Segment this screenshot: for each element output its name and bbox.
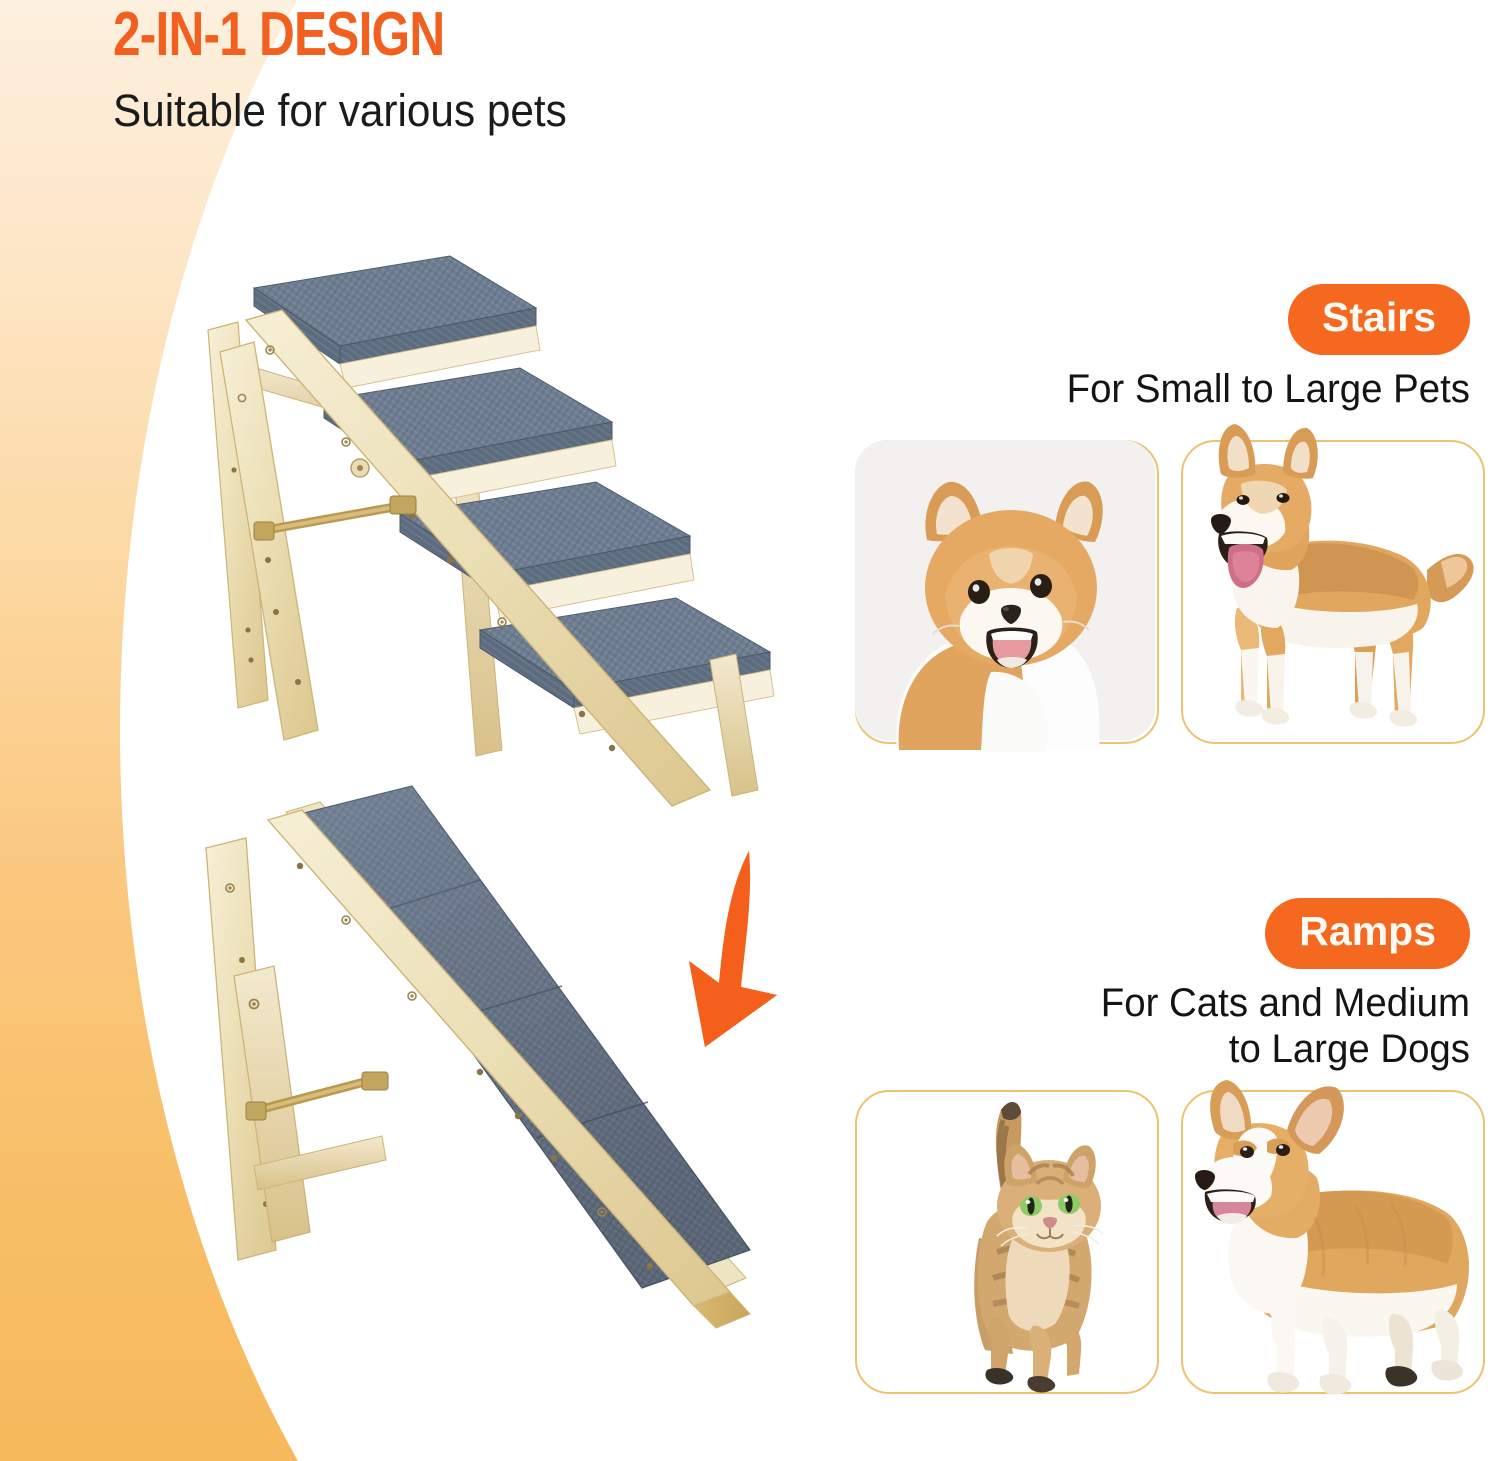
stairs-badge-row: Stairs [910, 284, 1470, 355]
tabby-cat-photo [867, 1088, 1167, 1400]
corgi-dog-photo [1155, 1074, 1500, 1410]
shiba-puppy-photo [841, 420, 1173, 772]
stairs-badge: Stairs [1288, 284, 1470, 355]
page-subtitle: Suitable for various pets [113, 85, 865, 137]
ramps-photo-cards [855, 1090, 1485, 1394]
stairs-section-text: Stairs For Small to Large Pets [910, 284, 1470, 413]
header-block: 2-IN-1 DESIGN Suitable for various pets [113, 4, 913, 137]
transform-arrow [645, 835, 815, 1065]
card-shiba-dog [1181, 440, 1485, 744]
stairs-configuration [150, 230, 830, 830]
card-corgi-dog [1181, 1090, 1485, 1394]
ramps-caption-line2: to Large Dogs [932, 1027, 1470, 1073]
card-shiba-puppy [855, 440, 1159, 744]
shiba-dog-photo [1141, 402, 1500, 782]
ramps-badge-row: Ramps [910, 898, 1470, 969]
ramps-caption-line1: For Cats and Medium [932, 981, 1470, 1027]
page-title: 2-IN-1 DESIGN [113, 4, 753, 66]
ramps-section-text: Ramps For Cats and Medium to Large Dogs [910, 898, 1470, 1072]
stairs-photo-cards [855, 440, 1485, 744]
infographic-canvas: 2-IN-1 DESIGN Suitable for various pets [0, 0, 1500, 1461]
ramps-caption: For Cats and Medium to Large Dogs [932, 981, 1470, 1072]
card-tabby-cat [855, 1090, 1159, 1394]
ramps-badge: Ramps [1265, 898, 1470, 969]
